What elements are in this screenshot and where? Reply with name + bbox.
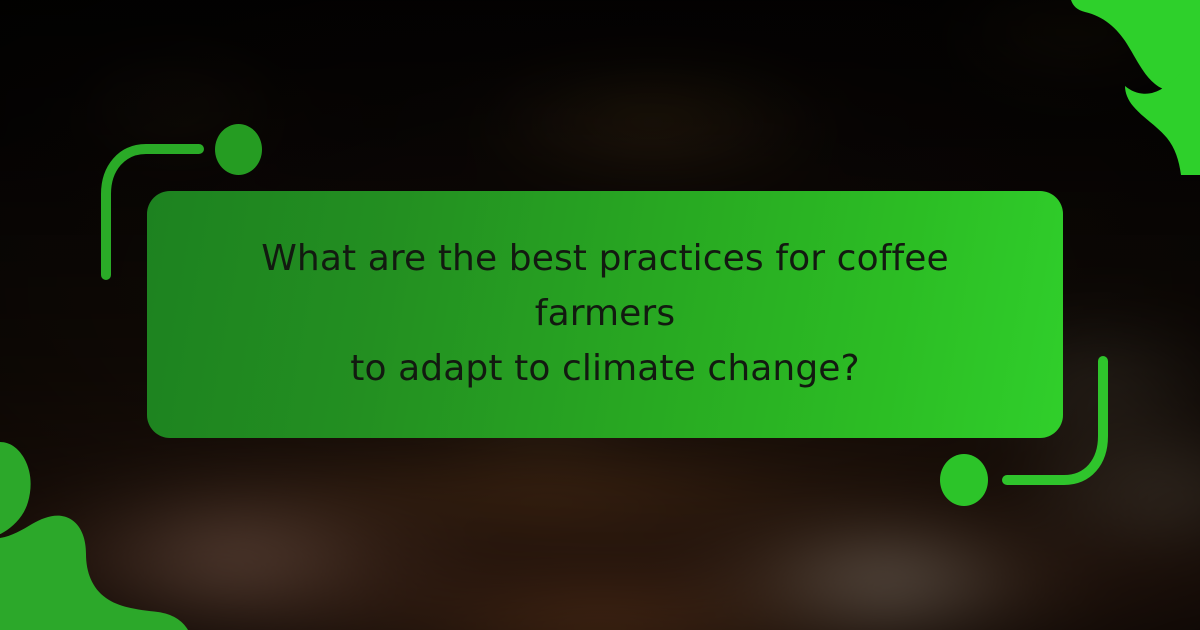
question-text: What are the best practices for coffee f… [210, 232, 1000, 396]
accent-dot-top-left [215, 124, 262, 175]
question-card: What are the best practices for coffee f… [147, 191, 1063, 438]
social-card-canvas: What are the best practices for coffee f… [0, 0, 1200, 630]
accent-dot-bottom-right [940, 454, 988, 506]
